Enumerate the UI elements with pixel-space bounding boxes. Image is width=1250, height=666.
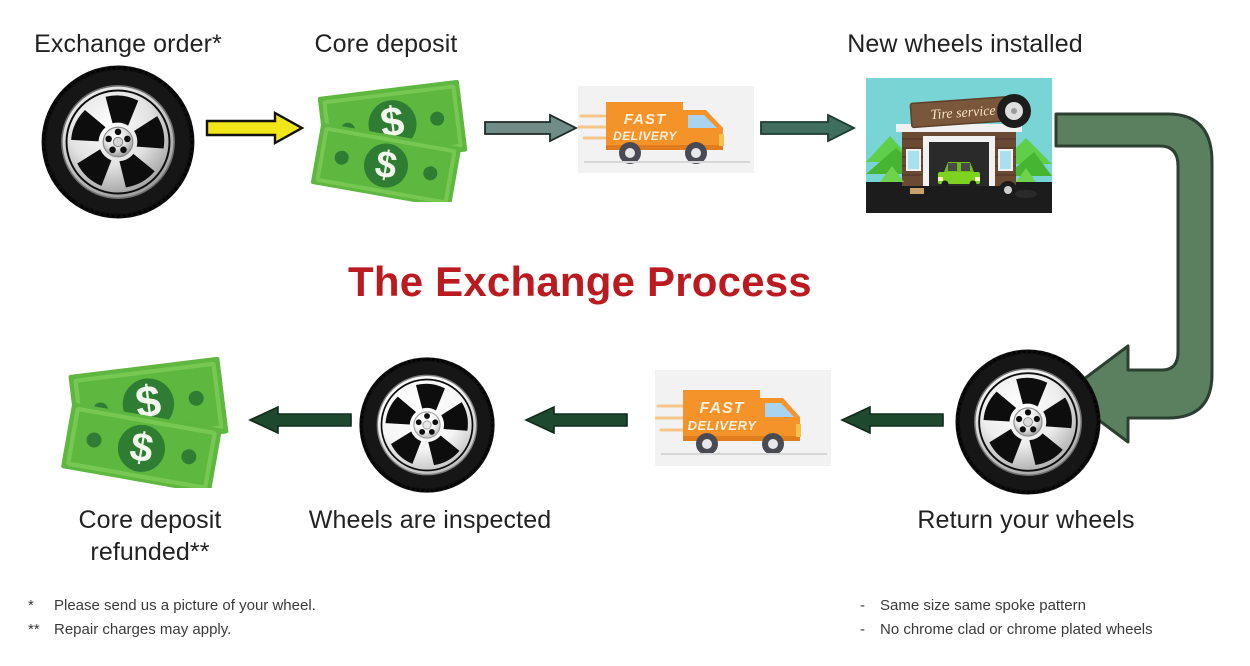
footnote-item: ** Repair charges may apply. <box>28 618 448 642</box>
footnote-text: Repair charges may apply. <box>54 618 231 642</box>
svg-text:FAST: FAST <box>700 400 745 417</box>
footnotes-left: * Please send us a picture of your wheel… <box>28 594 448 643</box>
arrow-inspection-to-refund <box>248 404 352 436</box>
fast-delivery-truck-icon: FAST DELIVERY <box>655 370 831 466</box>
footnote-item: - Same size same spoke pattern <box>860 594 1250 618</box>
alloy-wheel-icon <box>358 356 496 494</box>
step-label-line1: Core deposit <box>30 504 270 536</box>
footnote-marker: - <box>860 618 880 642</box>
footnote-item: - No chrome clad or chrome plated wheels <box>860 618 1250 642</box>
footnote-marker: - <box>860 594 880 618</box>
step-label-line2: refunded** <box>30 536 270 568</box>
tire-service-shop-icon: Tire service <box>866 78 1052 213</box>
footnotes-right: - Same size same spoke pattern - No chro… <box>860 594 1250 643</box>
svg-text:DELIVERY: DELIVERY <box>613 129 677 143</box>
exchange-process-diagram: Exchange order* Core deposit New wheels … <box>0 0 1250 666</box>
step-label-new-wheels-installed: New wheels installed <box>800 28 1130 60</box>
page-title: The Exchange Process <box>348 258 812 306</box>
alloy-wheel-icon <box>954 348 1102 496</box>
footnote-text: Same size same spoke pattern <box>880 594 1086 618</box>
cash-money-icon: $ $ <box>58 352 242 488</box>
arrow-truck-to-inspection <box>524 404 628 436</box>
alloy-wheel-icon <box>40 64 196 220</box>
cash-money-icon: $ $ <box>308 76 480 202</box>
arrow-order-to-deposit <box>205 110 305 146</box>
svg-text:FAST: FAST <box>624 111 667 128</box>
svg-text:DELIVERY: DELIVERY <box>688 418 758 433</box>
step-label-return-your-wheels: Return your wheels <box>890 504 1162 536</box>
footnote-text: No chrome clad or chrome plated wheels <box>880 618 1153 642</box>
step-label-core-deposit-refunded: Core deposit refunded** <box>30 504 270 568</box>
step-label-exchange-order: Exchange order* <box>0 28 256 60</box>
fast-delivery-truck-icon: FAST DELIVERY <box>578 86 754 173</box>
footnote-item: * Please send us a picture of your wheel… <box>28 594 448 618</box>
footnote-text: Please send us a picture of your wheel. <box>54 594 316 618</box>
footnote-marker: * <box>28 594 54 618</box>
footnote-marker: ** <box>28 618 54 642</box>
arrow-deposit-to-truck <box>484 112 578 144</box>
step-label-core-deposit: Core deposit <box>278 28 494 60</box>
step-label-wheels-inspected: Wheels are inspected <box>290 504 570 536</box>
arrow-return-to-truck <box>840 404 944 436</box>
arrow-truck-to-shop <box>760 112 856 144</box>
